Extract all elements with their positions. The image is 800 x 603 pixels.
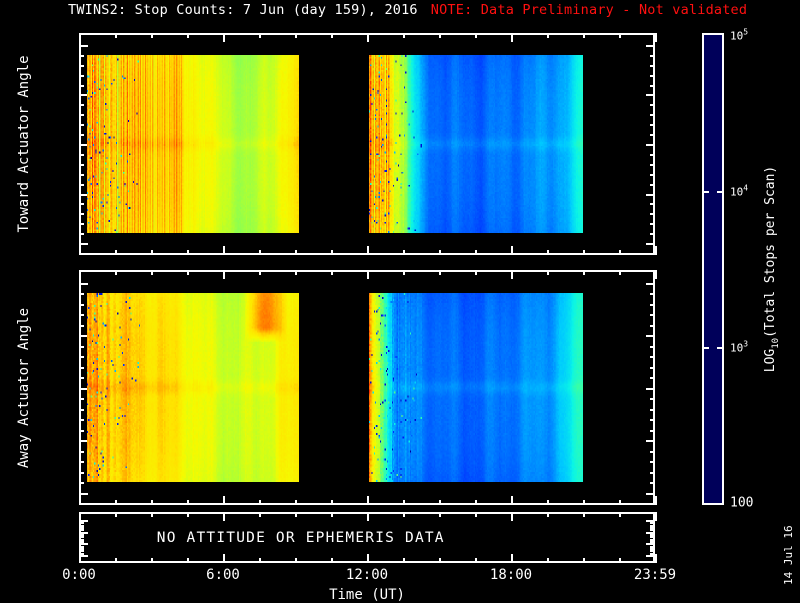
axis-tick xyxy=(650,223,655,225)
axis-tick xyxy=(650,154,655,156)
axis-tick xyxy=(331,558,333,563)
colorbar-tick xyxy=(717,347,724,349)
axis-tick xyxy=(79,430,84,432)
axis-tick xyxy=(650,314,655,316)
axis-tick xyxy=(259,500,261,505)
axis-tick xyxy=(79,541,84,543)
axis-tick xyxy=(650,85,655,87)
axis-tick xyxy=(646,335,655,337)
colorbar-tick xyxy=(717,191,724,193)
axis-tick xyxy=(79,293,84,295)
axis-tick xyxy=(650,184,655,186)
axis-tick xyxy=(223,33,225,42)
axis-tick xyxy=(223,496,225,505)
axis-tick xyxy=(79,461,84,463)
axis-tick xyxy=(547,250,549,255)
plot-title-note: NOTE: Data Preliminary - Not validated xyxy=(431,2,747,18)
axis-tick xyxy=(151,250,153,255)
axis-tick xyxy=(646,283,655,285)
panel-away-axis-title: Away Actuator Angle xyxy=(16,307,32,467)
axis-tick xyxy=(646,243,655,245)
panel-toward-axis-title: Toward Actuator Angle xyxy=(16,55,32,232)
axis-tick xyxy=(367,246,369,255)
axis-tick xyxy=(439,250,441,255)
axis-tick xyxy=(439,33,441,38)
xtick-label: 12:00 xyxy=(346,568,388,582)
axis-tick xyxy=(79,104,84,106)
axis-tick xyxy=(295,250,297,255)
axis-tick xyxy=(439,558,441,563)
axis-tick xyxy=(115,558,117,563)
axis-tick xyxy=(295,558,297,563)
axis-tick xyxy=(650,482,655,484)
axis-tick xyxy=(79,154,84,156)
axis-tick xyxy=(650,356,655,358)
spectrogram-toward-segment-1 xyxy=(87,55,298,233)
axis-tick xyxy=(187,558,189,563)
axis-tick xyxy=(650,430,655,432)
axis-tick xyxy=(619,558,621,563)
axis-tick xyxy=(295,512,297,517)
axis-tick xyxy=(583,512,585,517)
axis-tick xyxy=(79,85,84,87)
axis-tick xyxy=(655,554,657,563)
axis-tick xyxy=(650,419,655,421)
axis-tick xyxy=(619,270,621,275)
axis-tick xyxy=(646,440,655,442)
axis-tick xyxy=(650,233,655,235)
axis-tick xyxy=(259,250,261,255)
axis-tick xyxy=(79,65,84,67)
axis-tick xyxy=(79,184,84,186)
xtick-label: 6:00 xyxy=(206,568,240,582)
axis-tick xyxy=(583,250,585,255)
axis-tick xyxy=(650,75,655,77)
axis-tick xyxy=(646,493,655,495)
axis-tick xyxy=(79,33,81,42)
axis-tick xyxy=(79,223,84,225)
axis-tick xyxy=(619,500,621,505)
axis-tick xyxy=(79,419,84,421)
axis-tick xyxy=(367,512,369,521)
axis-tick xyxy=(151,270,153,275)
axis-tick xyxy=(187,512,189,517)
axis-tick xyxy=(79,213,84,215)
axis-tick xyxy=(655,496,657,505)
axis-tick xyxy=(439,270,441,275)
axis-tick xyxy=(367,496,369,505)
axis-tick xyxy=(115,33,117,38)
axis-tick xyxy=(511,270,513,279)
axis-tick xyxy=(79,398,84,400)
axis-tick xyxy=(619,512,621,517)
axis-tick xyxy=(650,293,655,295)
axis-tick xyxy=(650,213,655,215)
axis-tick xyxy=(79,243,88,245)
spectrogram-toward-segment-2 xyxy=(369,55,583,233)
axis-tick xyxy=(187,270,189,275)
axis-tick xyxy=(367,270,369,279)
axis-tick xyxy=(79,346,84,348)
axis-tick xyxy=(79,174,84,176)
axis-tick xyxy=(79,75,84,77)
axis-tick xyxy=(151,558,153,563)
axis-tick xyxy=(79,203,84,205)
axis-tick xyxy=(650,65,655,67)
axis-tick xyxy=(650,461,655,463)
date-stamp: 14 Jul 16 xyxy=(782,525,795,585)
axis-tick xyxy=(79,233,84,235)
axis-tick xyxy=(115,500,117,505)
axis-tick xyxy=(331,270,333,275)
axis-tick xyxy=(79,554,81,563)
axis-tick xyxy=(646,555,655,557)
axis-tick xyxy=(115,512,117,517)
axis-tick xyxy=(650,304,655,306)
xtick-label: 0:00 xyxy=(62,568,96,582)
axis-tick xyxy=(439,512,441,517)
axis-tick xyxy=(79,124,84,126)
axis-tick xyxy=(475,558,477,563)
axis-tick xyxy=(583,558,585,563)
axis-tick xyxy=(619,250,621,255)
axis-tick xyxy=(79,356,84,358)
axis-tick xyxy=(151,33,153,38)
axis-tick xyxy=(295,500,297,505)
axis-tick xyxy=(511,496,513,505)
axis-tick xyxy=(646,45,655,47)
axis-tick xyxy=(650,451,655,453)
axis-tick xyxy=(115,270,117,275)
axis-tick xyxy=(655,246,657,255)
axis-tick xyxy=(187,500,189,505)
axis-tick xyxy=(650,346,655,348)
plot-canvas: TWINS2: Stop Counts: 7 Jun (day 159), 20… xyxy=(0,0,800,600)
axis-tick xyxy=(223,554,225,563)
colorbar-ticks xyxy=(702,33,724,505)
axis-tick xyxy=(646,388,655,390)
axis-tick xyxy=(650,325,655,327)
colorbar-tick-label: 100 xyxy=(730,497,753,510)
axis-tick xyxy=(650,164,655,166)
axis-tick xyxy=(259,512,261,517)
axis-tick xyxy=(475,512,477,517)
axis-tick xyxy=(583,500,585,505)
axis-tick xyxy=(511,512,513,521)
axis-tick xyxy=(79,114,84,116)
xtick-label: 23:59 xyxy=(634,568,676,582)
axis-tick xyxy=(403,558,405,563)
axis-tick xyxy=(79,512,81,521)
axis-tick xyxy=(403,512,405,517)
axis-tick xyxy=(619,33,621,38)
axis-tick xyxy=(79,377,84,379)
axis-tick xyxy=(151,512,153,517)
axis-tick xyxy=(650,409,655,411)
axis-tick xyxy=(259,558,261,563)
colorbar-tick xyxy=(702,191,709,193)
axis-tick xyxy=(475,33,477,38)
axis-tick xyxy=(547,500,549,505)
axis-tick xyxy=(259,270,261,275)
axis-tick xyxy=(79,493,88,495)
axis-tick xyxy=(403,250,405,255)
spectrogram-away-segment-2 xyxy=(369,293,583,482)
axis-tick xyxy=(547,512,549,517)
axis-tick xyxy=(295,270,297,275)
axis-tick xyxy=(79,134,84,136)
axis-tick xyxy=(79,472,84,474)
axis-tick xyxy=(367,33,369,42)
axis-tick xyxy=(511,33,513,42)
axis-tick xyxy=(187,33,189,38)
axis-tick xyxy=(650,541,655,543)
axis-tick xyxy=(79,496,81,505)
axis-tick xyxy=(331,250,333,255)
no-data-message: NO ATTITUDE OR EPHEMERIS DATA xyxy=(157,530,445,546)
axis-tick xyxy=(79,409,84,411)
axis-tick xyxy=(79,164,84,166)
axis-tick xyxy=(655,512,657,521)
axis-tick xyxy=(79,304,84,306)
axis-tick xyxy=(650,398,655,400)
axis-tick xyxy=(79,314,84,316)
axis-tick xyxy=(583,270,585,275)
colorbar-tick-label: 105 xyxy=(730,29,748,42)
axis-tick xyxy=(650,203,655,205)
axis-tick xyxy=(583,33,585,38)
axis-tick xyxy=(223,270,225,279)
axis-tick xyxy=(646,144,655,146)
axis-tick xyxy=(511,554,513,563)
axis-tick xyxy=(650,174,655,176)
plot-title-main: TWINS2: Stop Counts: 7 Jun (day 159), 20… xyxy=(68,2,418,18)
axis-tick xyxy=(187,250,189,255)
axis-tick xyxy=(259,33,261,38)
axis-tick xyxy=(79,283,88,285)
axis-tick xyxy=(650,472,655,474)
axis-tick xyxy=(79,482,84,484)
axis-tick xyxy=(650,124,655,126)
axis-tick xyxy=(650,377,655,379)
axis-tick xyxy=(511,246,513,255)
axis-tick xyxy=(650,529,655,531)
axis-tick xyxy=(79,325,84,327)
axis-tick xyxy=(223,512,225,521)
axis-tick xyxy=(403,500,405,505)
axis-tick xyxy=(655,270,657,279)
axis-tick xyxy=(79,45,88,47)
axis-tick xyxy=(331,500,333,505)
axis-tick xyxy=(79,451,84,453)
axis-tick xyxy=(403,33,405,38)
colorbar-tick xyxy=(702,347,709,349)
xaxis-title: Time (UT) xyxy=(329,587,405,603)
axis-tick xyxy=(650,104,655,106)
axis-tick xyxy=(655,33,657,42)
axis-tick xyxy=(331,512,333,517)
axis-tick xyxy=(79,246,81,255)
axis-tick xyxy=(650,367,655,369)
axis-tick xyxy=(646,94,655,96)
axis-tick xyxy=(475,500,477,505)
xtick-label: 18:00 xyxy=(490,568,532,582)
colorbar-title: LOG10(Total Stops per Scan) xyxy=(763,166,781,373)
axis-tick xyxy=(79,367,84,369)
axis-tick xyxy=(151,500,153,505)
axis-tick xyxy=(403,270,405,275)
axis-tick xyxy=(79,270,81,279)
axis-tick xyxy=(331,33,333,38)
axis-tick xyxy=(646,194,655,196)
plot-title: TWINS2: Stop Counts: 7 Jun (day 159), 20… xyxy=(68,2,747,18)
colorbar-tick-label: 103 xyxy=(730,341,748,354)
axis-tick xyxy=(79,529,84,531)
colorbar-tick-label: 104 xyxy=(730,185,748,198)
axis-tick xyxy=(650,114,655,116)
axis-tick xyxy=(439,500,441,505)
axis-tick xyxy=(295,33,297,38)
axis-tick xyxy=(115,250,117,255)
axis-tick xyxy=(475,250,477,255)
axis-tick xyxy=(223,246,225,255)
axis-tick xyxy=(650,134,655,136)
axis-tick xyxy=(547,33,549,38)
axis-tick xyxy=(547,270,549,275)
axis-tick xyxy=(79,55,84,57)
axis-tick xyxy=(367,554,369,563)
axis-tick xyxy=(547,558,549,563)
spectrogram-away-segment-1 xyxy=(87,293,298,482)
axis-tick xyxy=(475,270,477,275)
axis-tick xyxy=(650,55,655,57)
